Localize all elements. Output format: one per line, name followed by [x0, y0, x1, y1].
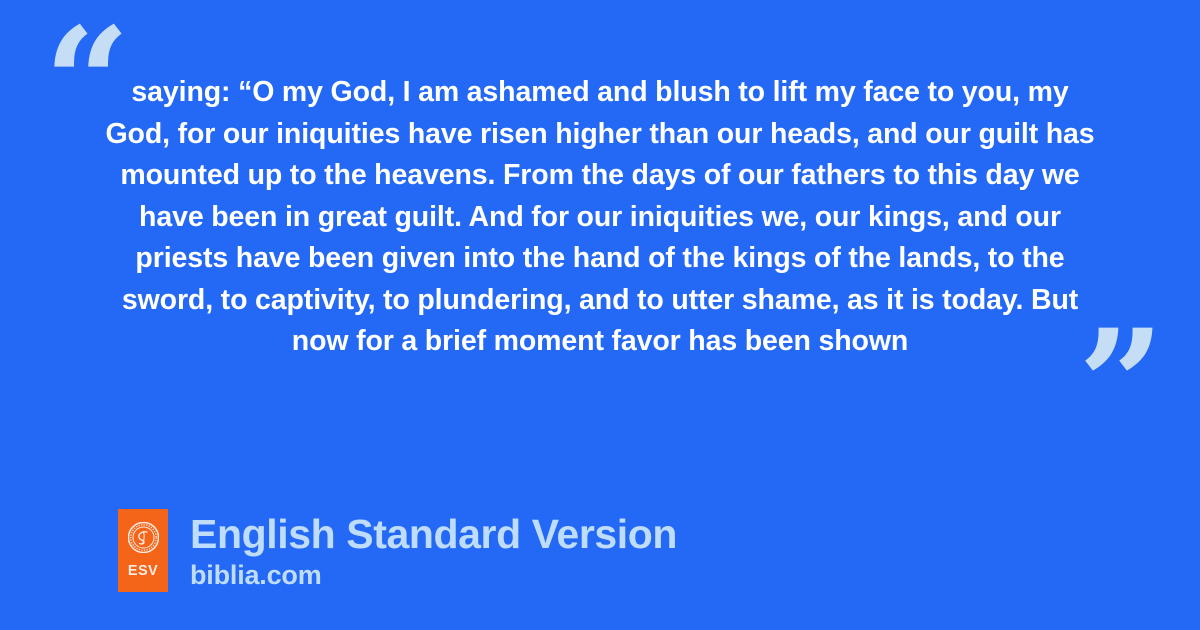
esv-logo-tile[interactable]: ESV [118, 509, 168, 592]
verse-share-card: “ saying: “O my God, I am ashamed and bl… [0, 0, 1200, 630]
esv-logo-abbreviation: ESV [128, 564, 158, 579]
site-url-label[interactable]: biblia.com [190, 560, 677, 590]
close-quote-icon: ” [1078, 310, 1164, 460]
verse-text: saying: “O my God, I am ashamed and blus… [100, 72, 1100, 363]
esv-seal-icon [128, 522, 159, 553]
bible-version-name: English Standard Version [190, 510, 677, 558]
verse-container: saying: “O my God, I am ashamed and blus… [100, 72, 1100, 363]
attribution-text: English Standard Version biblia.com [190, 509, 677, 590]
attribution[interactable]: ESV English Standard Version biblia.com [118, 509, 677, 592]
